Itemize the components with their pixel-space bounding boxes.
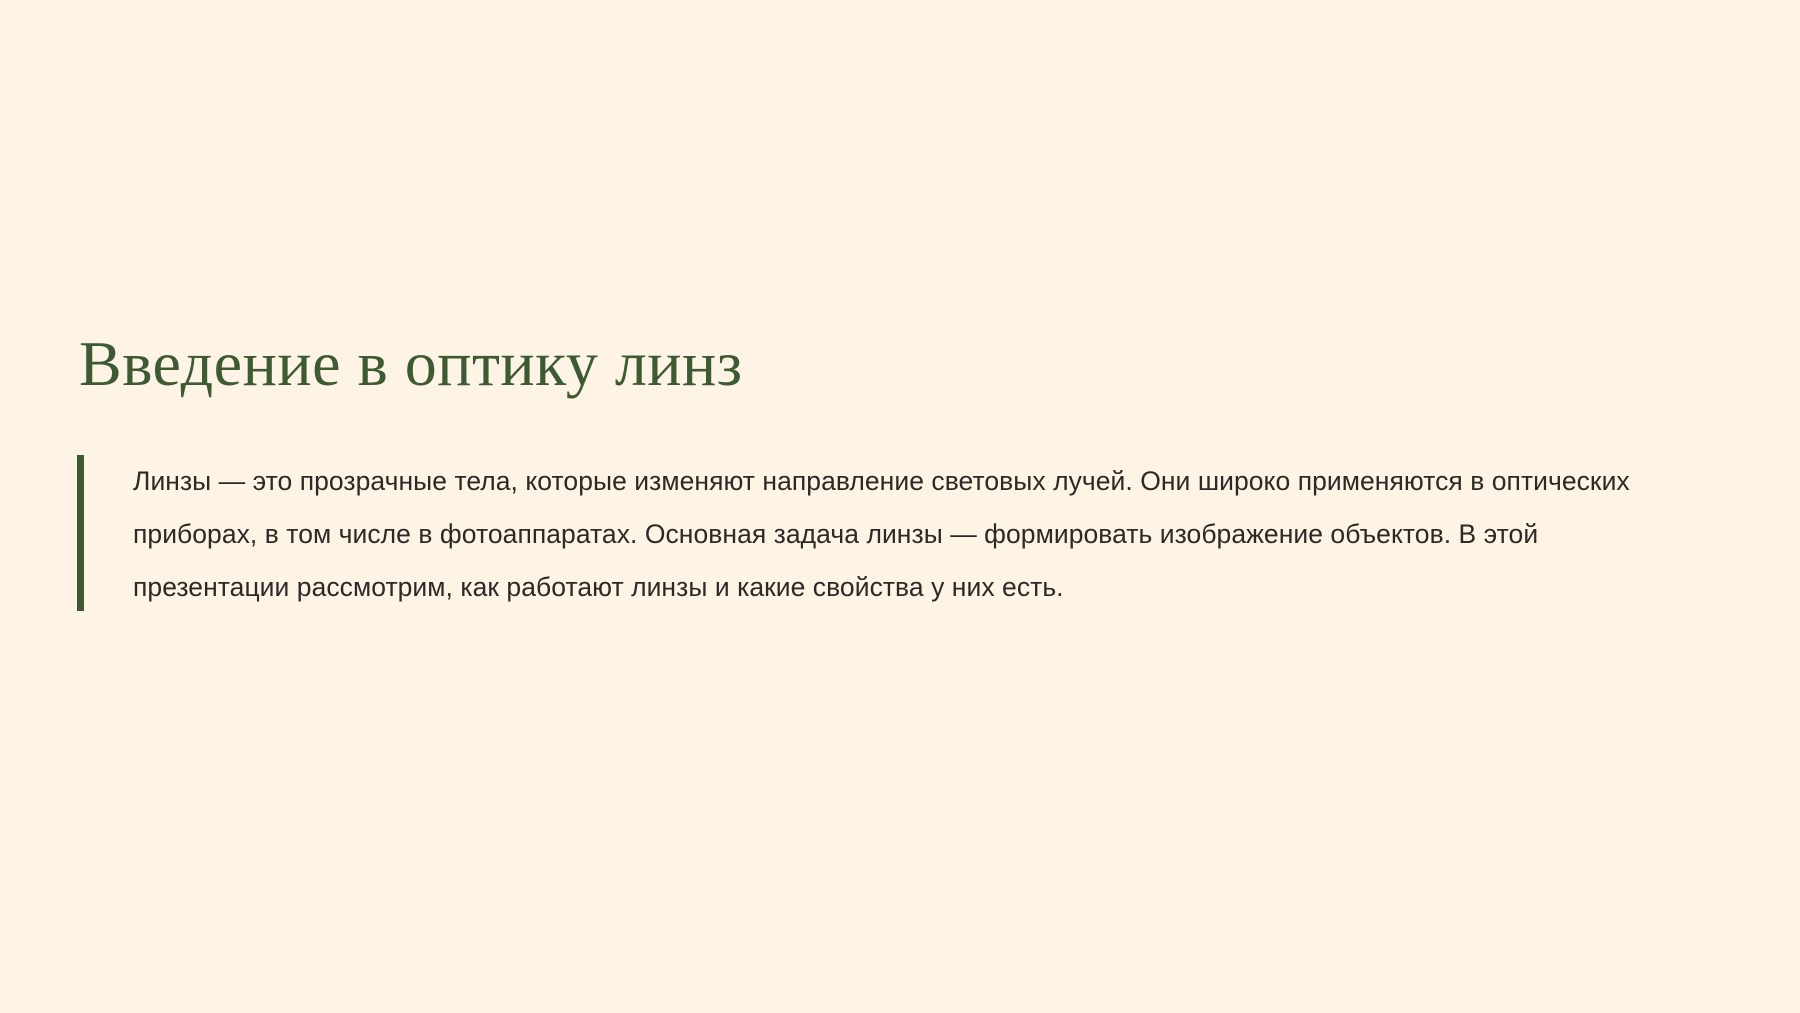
presentation-slide: Введение в оптику линз Линзы — это прозр… — [0, 0, 1800, 1013]
page-title: Введение в оптику линз — [77, 330, 1717, 397]
slide-content-area: Введение в оптику линз Линзы — это прозр… — [77, 330, 1717, 614]
accent-bar — [77, 455, 84, 611]
body-callout-block: Линзы — это прозрачные тела, которые изм… — [77, 455, 1717, 614]
body-paragraph: Линзы — это прозрачные тела, которые изм… — [133, 455, 1685, 614]
